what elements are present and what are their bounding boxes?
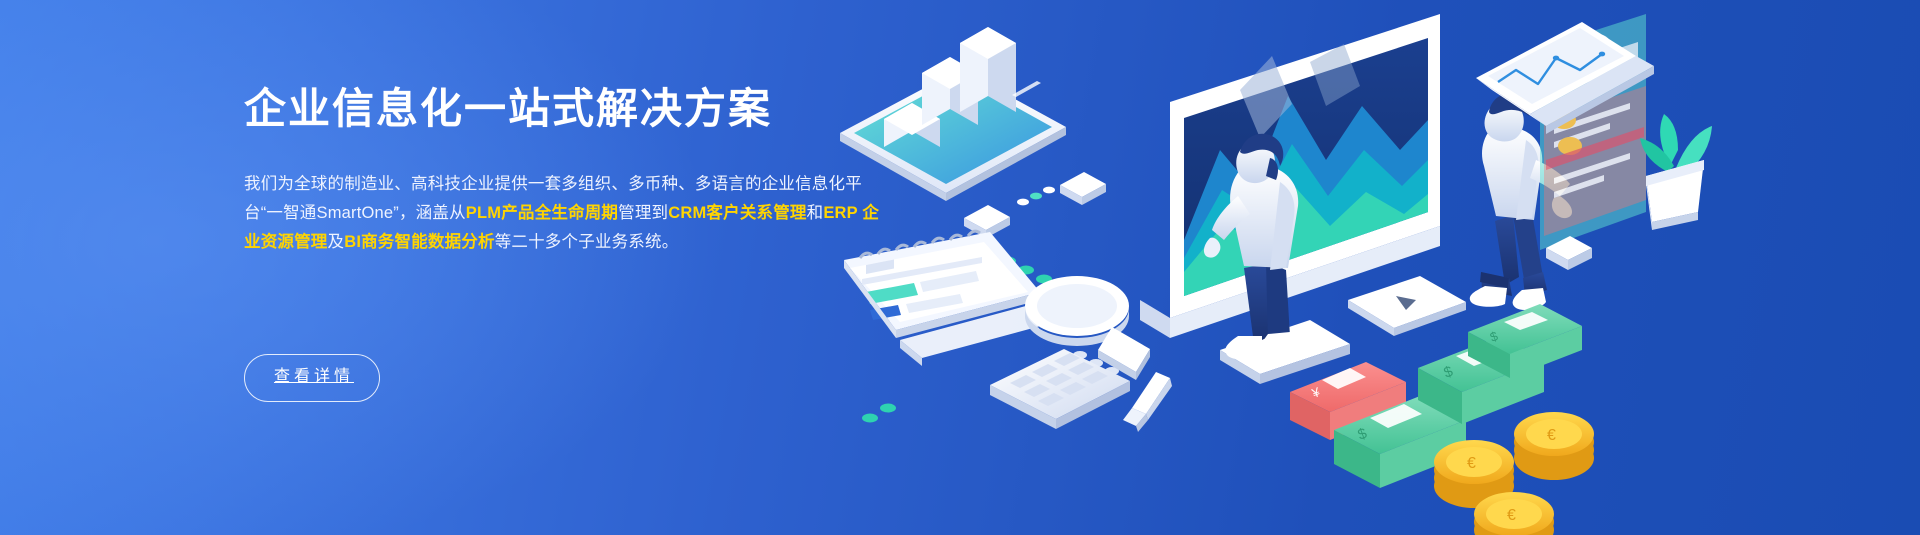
hero-description: 我们为全球的制造业、高科技企业提供一套多组织、多币种、多语言的企业信息化平台“一… <box>244 136 884 257</box>
description-line-3-mid: 及 <box>328 233 345 251</box>
description-line-3-prefix: 和 <box>807 204 824 222</box>
pen-icon <box>1123 372 1172 432</box>
highlight-bi: BI商务智能数据分析 <box>344 233 495 251</box>
hero-banner: ¥ $ $ $ <box>0 0 1920 535</box>
svg-text:€: € <box>1507 507 1516 524</box>
view-details-button[interactable]: 查看详情 <box>244 354 380 402</box>
hero-copy: 企业信息化一站式解决方案 我们为全球的制造业、高科技企业提供一套多组织、多币种、… <box>244 82 884 257</box>
description-line-2-mid: 管理到 <box>618 204 668 222</box>
page-title: 企业信息化一站式解决方案 <box>244 82 884 136</box>
description-line-1: 我们为全球的制造业、高科技企业提供一套多组织、多币种、多语言的企业信息化 <box>244 175 845 193</box>
svg-text:€: € <box>1547 427 1556 444</box>
hero-illustration: ¥ $ $ $ <box>840 0 1920 535</box>
svg-text:€: € <box>1467 455 1476 472</box>
description-line-3-suffix: 等二十多个子业务系统。 <box>495 233 679 251</box>
highlight-crm: CRM客户关系管理 <box>668 204 806 222</box>
paper-card-icon <box>1348 276 1466 336</box>
potted-plant-icon <box>1640 114 1712 230</box>
highlight-plm: PLM产品全生命周期 <box>466 204 618 222</box>
